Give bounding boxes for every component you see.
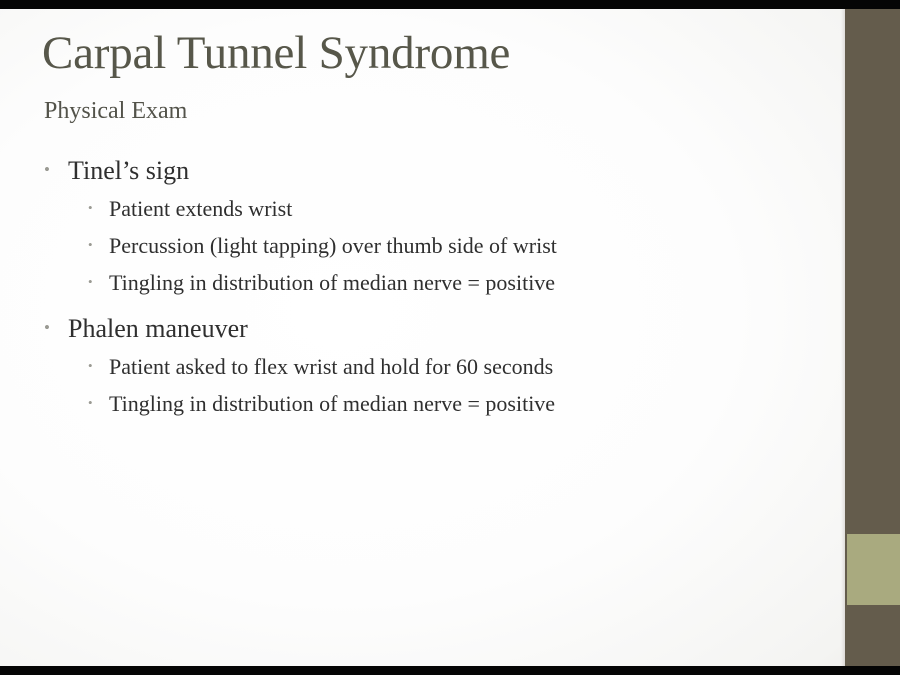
bullet-marker-icon: • xyxy=(88,200,109,216)
bullet-marker-icon: • xyxy=(88,237,109,253)
bullet-label: Tingling in distribution of median nerve… xyxy=(109,391,555,417)
bullet-marker-icon: • xyxy=(44,318,68,338)
bullet-group-spacer xyxy=(44,307,824,314)
bullet-label: Tingling in distribution of median nerve… xyxy=(109,270,555,296)
bullet-marker-icon: • xyxy=(88,274,109,290)
slide-body-content: • Tinel’s sign • Patient extends wrist •… xyxy=(44,156,824,428)
bullet-label: Tinel’s sign xyxy=(68,156,189,186)
bullet-item-level2: • Patient asked to flex wrist and hold f… xyxy=(44,354,824,391)
presentation-slide: Carpal Tunnel Syndrome Physical Exam • T… xyxy=(0,9,900,666)
bullet-marker-icon: • xyxy=(44,160,68,180)
bullet-item-level2: • Patient extends wrist xyxy=(44,196,824,233)
bullet-item-level1: • Phalen maneuver xyxy=(44,314,824,354)
slide-title: Carpal Tunnel Syndrome xyxy=(42,30,510,77)
video-player-frame: Carpal Tunnel Syndrome Physical Exam • T… xyxy=(0,0,900,675)
bullet-marker-icon: • xyxy=(88,358,109,374)
bullet-item-level2: • Percussion (light tapping) over thumb … xyxy=(44,233,824,270)
bullet-label: Percussion (light tapping) over thumb si… xyxy=(109,233,557,259)
bullet-marker-icon: • xyxy=(88,395,109,411)
bullet-label: Phalen maneuver xyxy=(68,314,248,344)
bullet-label: Patient extends wrist xyxy=(109,196,292,222)
slide-subtitle: Physical Exam xyxy=(44,99,187,123)
slide-decoration-band-accent xyxy=(847,534,900,605)
letterbox-bottom-bar xyxy=(0,666,900,675)
bullet-item-level2: • Tingling in distribution of median ner… xyxy=(44,391,824,428)
bullet-item-level2: • Tingling in distribution of median ner… xyxy=(44,270,824,307)
bullet-item-level1: • Tinel’s sign xyxy=(44,156,824,196)
letterbox-top-bar xyxy=(0,0,900,9)
bullet-label: Patient asked to flex wrist and hold for… xyxy=(109,354,553,380)
